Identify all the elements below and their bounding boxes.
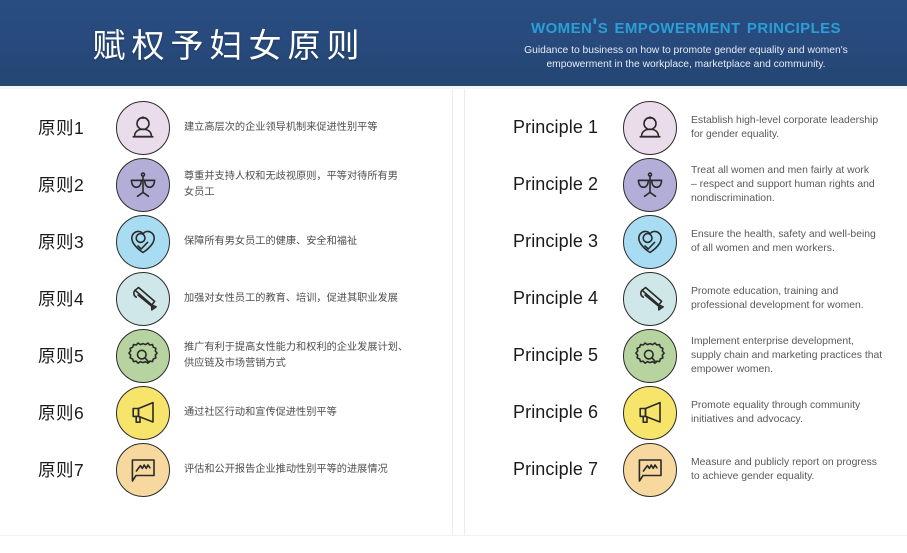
chinese-principles-column: 原则1建立高层次的企业领导机制来促进性别平等原则2尊重并支持人权和无歧视原则，平… <box>0 89 452 535</box>
header-english-side: Women's Empowerment Principles Guidance … <box>465 0 907 86</box>
principle-description-line: 尊重并支持人权和无歧视原则，平等对待所有男 <box>184 169 434 185</box>
gear-enterprise-icon <box>116 329 170 383</box>
pencil-education-icon <box>623 272 677 326</box>
english-principles-column: Principle 1Establish high-level corporat… <box>465 89 907 535</box>
report-chart-icon <box>116 443 170 497</box>
principle-label: 原则2 <box>38 172 114 197</box>
principle-label: Principle 7 <box>513 459 623 480</box>
principle-description-line: initiatives and advocacy. <box>691 413 906 427</box>
principle-description-line: to achieve gender equality. <box>691 470 906 484</box>
principle-description-line: nondiscrimination. <box>691 192 906 206</box>
principle-label: Principle 2 <box>513 174 623 195</box>
principle-label: 原则1 <box>38 115 114 140</box>
principle-row: Principle 6Promote equality through comm… <box>465 384 907 441</box>
principle-description: 尊重并支持人权和无歧视原则，平等对待所有男女员工 <box>184 169 434 200</box>
column-divider-left <box>452 89 453 535</box>
principle-description: 保障所有男女员工的健康、安全和福祉 <box>184 234 434 250</box>
principle-description: Promote equality through communityinitia… <box>691 399 906 427</box>
principle-row: 原则2尊重并支持人权和无歧视原则，平等对待所有男女员工 <box>0 156 490 213</box>
principle-label: 原则7 <box>38 457 114 482</box>
principle-description: 通过社区行动和宣传促进性别平等 <box>184 405 434 421</box>
principle-description-line: supply chain and marketing practices tha… <box>691 349 906 363</box>
principle-description-line: of all women and men workers. <box>691 242 906 256</box>
principle-description: Treat all women and men fairly at work– … <box>691 164 906 206</box>
principle-description: Promote education, training andprofessio… <box>691 285 906 313</box>
principle-row: 原则7评估和公开报告企业推动性别平等的进展情况 <box>0 441 490 498</box>
principle-row: Principle 1Establish high-level corporat… <box>465 99 907 156</box>
principle-label: Principle 1 <box>513 117 623 138</box>
gear-enterprise-icon <box>623 329 677 383</box>
principle-row: 原则1建立高层次的企业领导机制来促进性别平等 <box>0 99 490 156</box>
person-leadership-icon <box>116 101 170 155</box>
principle-description-line: professional development for women. <box>691 299 906 313</box>
infographic-sheet: 赋权予妇女原则 Women's Empowerment Principles G… <box>0 0 907 553</box>
principle-description: 建立高层次的企业领导机制来促进性别平等 <box>184 120 434 136</box>
english-subtitle-line1: Guidance to business on how to promote g… <box>524 45 848 56</box>
principle-label: Principle 5 <box>513 345 623 366</box>
pencil-education-icon <box>116 272 170 326</box>
principle-label: 原则3 <box>38 229 114 254</box>
principle-description: 推广有利于提高女性能力和权利的企业发展计划、供应链及市场营销方式 <box>184 340 434 371</box>
bottom-rule <box>0 535 907 536</box>
principle-row: Principle 2Treat all women and men fairl… <box>465 156 907 213</box>
megaphone-advocacy-icon <box>623 386 677 440</box>
principle-description-line: 建立高层次的企业领导机制来促进性别平等 <box>184 120 434 136</box>
heart-check-icon <box>116 215 170 269</box>
principle-description-line: 加强对女性员工的教育、培训，促进其职业发展 <box>184 291 434 307</box>
principle-description: 评估和公开报告企业推动性别平等的进展情况 <box>184 462 434 478</box>
english-title: Women's Empowerment Principles <box>531 14 841 39</box>
english-subtitle: Guidance to business on how to promote g… <box>524 44 848 72</box>
principle-row: 原则4加强对女性员工的教育、培训，促进其职业发展 <box>0 270 490 327</box>
principle-description-line: Promote equality through community <box>691 399 906 413</box>
principle-description-line: Measure and publicly report on progress <box>691 456 906 470</box>
principle-row: 原则6通过社区行动和宣传促进性别平等 <box>0 384 490 441</box>
person-leadership-icon <box>623 101 677 155</box>
principle-label: 原则5 <box>38 343 114 368</box>
english-subtitle-line2: empowerment in the workplace, marketplac… <box>524 58 848 72</box>
principle-description-line: 供应链及市场营销方式 <box>184 356 434 372</box>
principle-label: 原则4 <box>38 286 114 311</box>
principle-description-line: Promote education, training and <box>691 285 906 299</box>
principle-row: Principle 5Implement enterprise developm… <box>465 327 907 384</box>
principle-description-line: Establish high-level corporate leadershi… <box>691 114 906 128</box>
principle-label: Principle 6 <box>513 402 623 423</box>
principle-row: Principle 3Ensure the health, safety and… <box>465 213 907 270</box>
balance-scale-icon <box>116 158 170 212</box>
heart-check-icon <box>623 215 677 269</box>
header-band: 赋权予妇女原则 Women's Empowerment Principles G… <box>0 0 907 86</box>
principle-description: Establish high-level corporate leadershi… <box>691 114 906 142</box>
principle-description: Measure and publicly report on progresst… <box>691 456 906 484</box>
principle-description-line: for gender equality. <box>691 128 906 142</box>
balance-scale-icon <box>623 158 677 212</box>
principle-description-line: 通过社区行动和宣传促进性别平等 <box>184 405 434 421</box>
principle-row: Principle 7Measure and publicly report o… <box>465 441 907 498</box>
principle-description-line: Ensure the health, safety and well-being <box>691 228 906 242</box>
principle-description: Implement enterprise development,supply … <box>691 335 906 377</box>
principle-description: Ensure the health, safety and well-being… <box>691 228 906 256</box>
principle-row: 原则3保障所有男女员工的健康、安全和福祉 <box>0 213 490 270</box>
principle-description-line: Treat all women and men fairly at work <box>691 164 906 178</box>
principle-description-line: 保障所有男女员工的健康、安全和福祉 <box>184 234 434 250</box>
chinese-title: 赋权予妇女原则 <box>87 19 366 67</box>
report-chart-icon <box>623 443 677 497</box>
principle-description-line: 推广有利于提高女性能力和权利的企业发展计划、 <box>184 340 434 356</box>
megaphone-advocacy-icon <box>116 386 170 440</box>
principle-description-line: Implement enterprise development, <box>691 335 906 349</box>
principle-description-line: empower women. <box>691 363 906 377</box>
principle-label: Principle 3 <box>513 231 623 252</box>
principle-label: Principle 4 <box>513 288 623 309</box>
principle-description-line: 评估和公开报告企业推动性别平等的进展情况 <box>184 462 434 478</box>
principle-description-line: 女员工 <box>184 185 434 201</box>
principle-label: 原则6 <box>38 400 114 425</box>
principle-description: 加强对女性员工的教育、培训，促进其职业发展 <box>184 291 434 307</box>
header-chinese-side: 赋权予妇女原则 <box>0 0 452 86</box>
principle-row: Principle 4Promote education, training a… <box>465 270 907 327</box>
principle-description-line: – respect and support human rights and <box>691 178 906 192</box>
principle-row: 原则5推广有利于提高女性能力和权利的企业发展计划、供应链及市场营销方式 <box>0 327 490 384</box>
